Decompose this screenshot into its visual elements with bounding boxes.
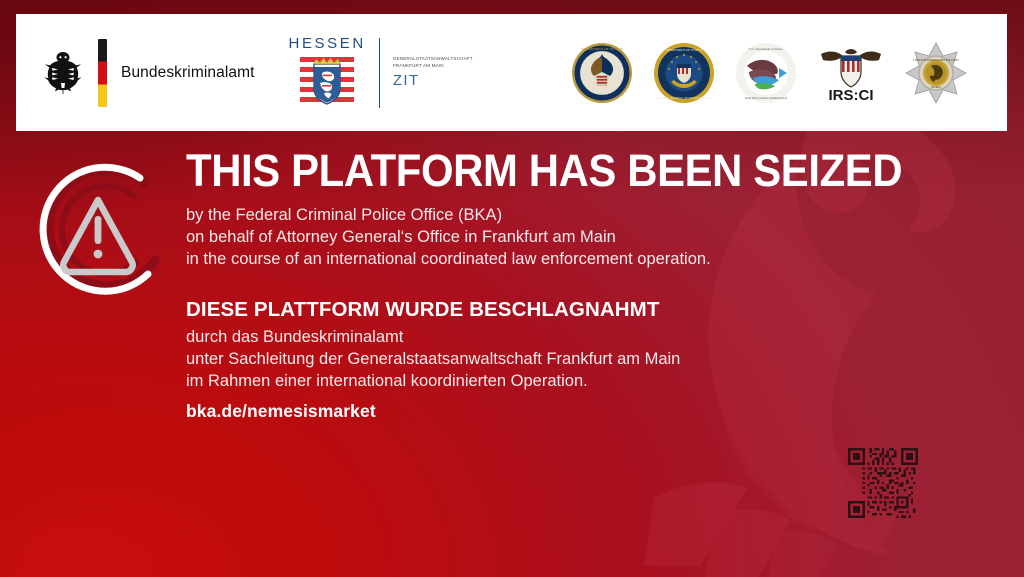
svg-text:FEDERAL BUREAU OF INVESTIGATIO: FEDERAL BUREAU OF INVESTIGATION	[657, 96, 712, 100]
hessen-zit-logo: HESSEN	[289, 35, 473, 111]
german-line-1: durch das Bundeskriminalamt	[186, 327, 946, 349]
seizure-notice-page: Bundeskriminalamt HESSEN	[0, 0, 1024, 577]
doj-seal: DEPARTMENT OF JUSTICE	[571, 42, 633, 104]
warning-triangle-icon	[22, 152, 174, 304]
authority-line-2: FRANKFURT AM MAIN	[393, 63, 473, 70]
svg-text:DEPARTMENT OF JUSTICE: DEPARTMENT OF JUSTICE	[581, 47, 622, 51]
seizure-message: THIS PLATFORM HAS BEEN SEIZED by the Fed…	[186, 148, 946, 422]
german-line-3: im Rahmen einer international koordinier…	[186, 371, 946, 393]
svg-text:BIURAS: BIURAS	[931, 86, 941, 89]
hessen-coat-of-arms-icon	[296, 55, 358, 111]
german-federal-eagle-icon	[42, 50, 84, 96]
svg-text:Drug Enforcement Administratio: Drug Enforcement Administration	[745, 96, 788, 100]
english-line-2: on behalf of Attorney General‘s Office i…	[186, 227, 946, 249]
english-paragraph: by the Federal Criminal Police Office (B…	[186, 205, 946, 271]
english-line-1: by the Federal Criminal Police Office (B…	[186, 205, 946, 227]
german-heading: DIESE PLATTFORM WURDE BESCHLAGNAHMT	[186, 297, 946, 323]
bka-name-label: Bundeskriminalamt	[121, 64, 255, 82]
partner-agency-seals: DEPARTMENT OF JUSTICE	[571, 42, 967, 104]
agency-logo-bar: Bundeskriminalamt HESSEN	[16, 14, 1007, 131]
seizure-headline: THIS PLATFORM HAS BEEN SEIZED	[186, 148, 893, 193]
german-flag-bar-icon	[98, 39, 107, 107]
german-line-2: unter Sachleitung der Generalstaatsanwal…	[186, 349, 946, 371]
bka-case-url[interactable]: bka.de/nemesismarket	[186, 401, 946, 422]
dea-seal: U.S. Department of Justice Drug Enforcem…	[735, 42, 797, 104]
zit-label: ZIT	[393, 72, 473, 89]
svg-text:IRS:CI: IRS:CI	[829, 87, 874, 104]
hessen-wordmark: HESSEN	[289, 35, 366, 52]
irs-ci-seal: IRS:CI	[817, 42, 885, 104]
svg-text:U.S. Department of Justice: U.S. Department of Justice	[749, 47, 783, 51]
lithuanian-criminal-police-seal: LIETUVOS KRIMINALINES POLICIJOS BIURAS	[905, 42, 967, 104]
english-line-3: in the course of an international coordi…	[186, 249, 946, 271]
german-paragraph: DIESE PLATTFORM WURDE BESCHLAGNAHMT durc…	[186, 297, 946, 393]
svg-text:DEPARTMENT OF JUSTICE: DEPARTMENT OF JUSTICE	[666, 48, 703, 52]
logo-divider	[379, 38, 380, 108]
bka-logo: Bundeskriminalamt	[42, 39, 255, 107]
svg-text:LIETUVOS KRIMINALINES POLICIJO: LIETUVOS KRIMINALINES POLICIJOS	[913, 59, 959, 62]
qr-code-icon[interactable]	[848, 448, 918, 518]
authority-line-1: GENERALSTAATSANWALTSCHAFT	[393, 56, 473, 63]
fbi-seal: DEPARTMENT OF JUSTICE FEDERAL BUREAU OF …	[653, 42, 715, 104]
